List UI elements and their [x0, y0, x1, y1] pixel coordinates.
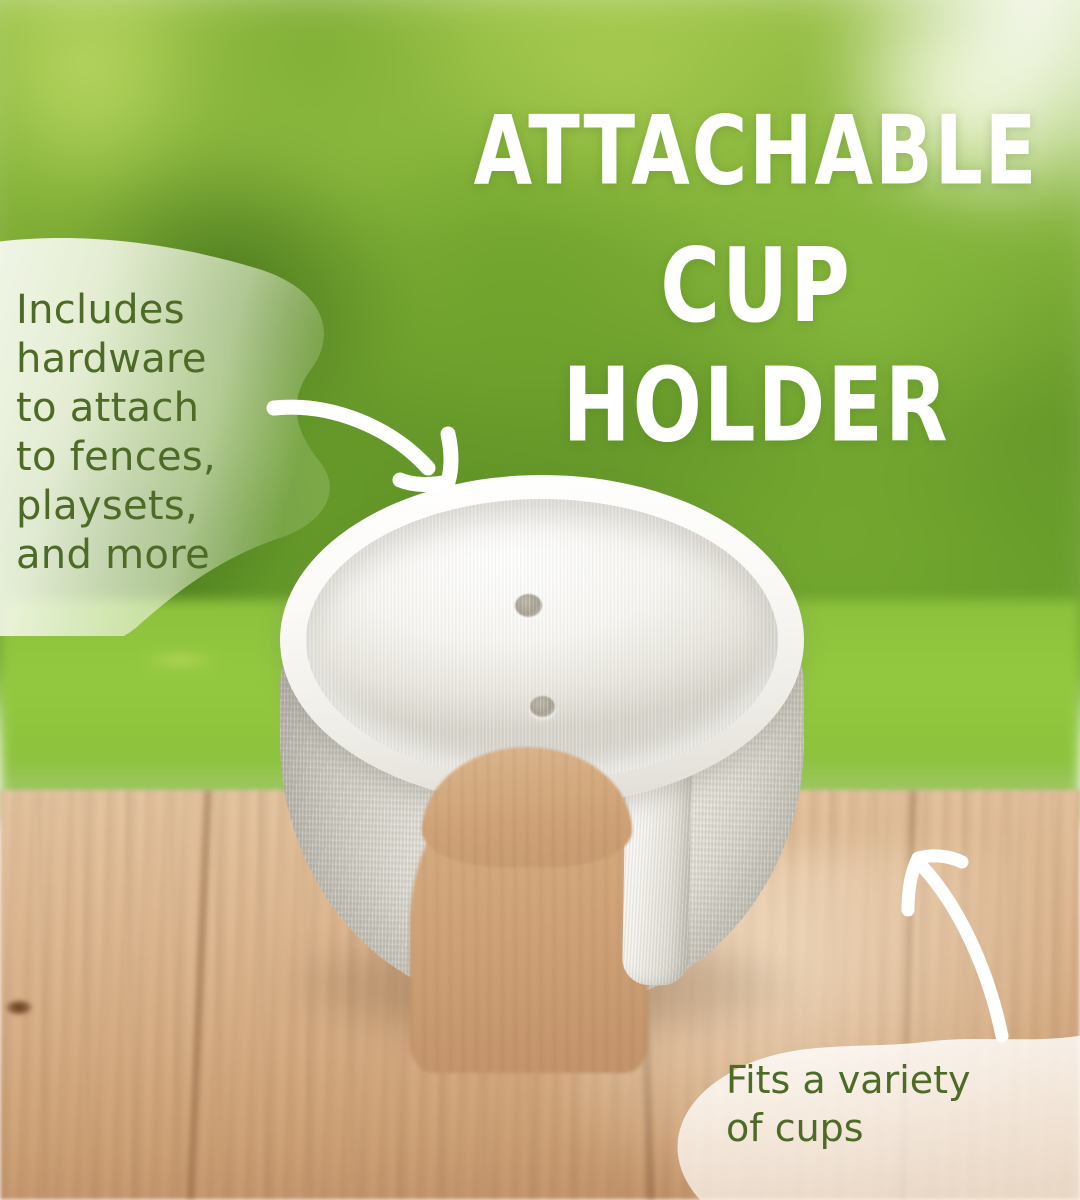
callout-left-line-5: playsets, [16, 482, 266, 531]
product-marketing-image: Includes hardware to attach to fences, p… [0, 0, 1080, 1200]
callout-left-line-3: to attach [16, 384, 266, 433]
wood-knot [6, 1000, 32, 1015]
product-cup-holder [262, 455, 822, 1065]
page-title: ATTACHABLE CUP HOLDER [452, 92, 1060, 422]
mounting-hole-upper [515, 594, 542, 617]
callout-left-line-1: Includes [16, 286, 266, 335]
product-inner-bowl [306, 499, 778, 781]
mounting-hole-lower [530, 696, 555, 717]
headline-line-1: ATTACHABLE [461, 92, 1051, 212]
callout-right-line-2: of cups [726, 1104, 1076, 1152]
callout-right-line-1: Fits a variety [726, 1056, 1076, 1104]
callout-right-text: Fits a variety of cups [726, 1056, 1076, 1152]
callout-left-line-4: to fences, [16, 433, 266, 482]
callout-left-text: Includes hardware to attach to fences, p… [16, 286, 266, 580]
headline-line-2: CUP HOLDER [461, 226, 1051, 465]
callout-left-line-2: hardware [16, 335, 266, 384]
callout-left-line-6: and more [16, 531, 266, 580]
